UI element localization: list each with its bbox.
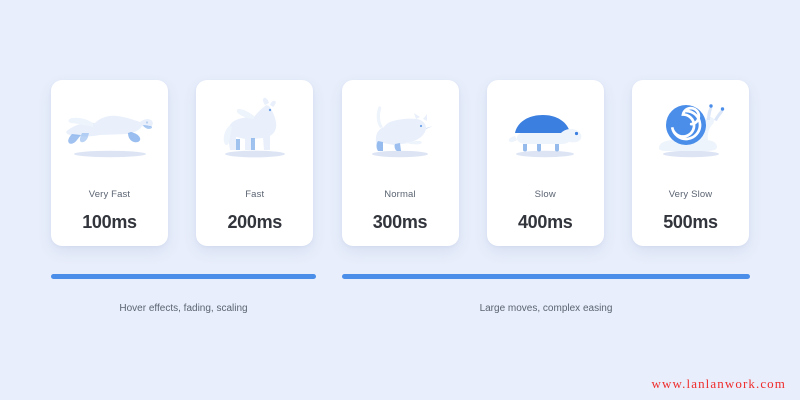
- cheetah-running-icon: [60, 92, 160, 170]
- group-caption-slow-range: Large moves, complex easing: [342, 304, 750, 314]
- speed-card-row: Very Fast 100ms Fast 200ms: [51, 80, 749, 246]
- card-value: 400ms: [518, 213, 573, 231]
- card-value: 500ms: [663, 213, 718, 231]
- card-value: 300ms: [373, 213, 428, 231]
- speed-card-fast[interactable]: Fast 200ms: [196, 80, 313, 246]
- group-bar-slow-range: [342, 274, 750, 279]
- speed-card-very-slow[interactable]: Very Slow 500ms: [632, 80, 749, 246]
- card-label: Very Fast: [89, 190, 130, 200]
- card-label: Slow: [535, 190, 556, 200]
- card-label: Normal: [384, 190, 416, 200]
- speed-card-very-fast[interactable]: Very Fast 100ms: [51, 80, 168, 246]
- speed-scale-infographic: Very Fast 100ms Fast 200ms: [0, 0, 800, 400]
- card-label: Very Slow: [669, 190, 713, 200]
- group-bar-fast-range: [51, 274, 316, 279]
- watermark-url: www.lanlanwork.com: [652, 376, 786, 392]
- card-value: 100ms: [82, 213, 137, 231]
- speed-card-slow[interactable]: Slow 400ms: [487, 80, 604, 246]
- turtle-icon: [495, 92, 595, 170]
- snail-icon: [641, 92, 741, 170]
- card-label: Fast: [245, 190, 264, 200]
- card-value: 200ms: [227, 213, 282, 231]
- horse-icon: [205, 92, 305, 170]
- cat-icon: [350, 92, 450, 170]
- group-caption-fast-range: Hover effects, fading, scaling: [51, 304, 316, 314]
- speed-card-normal[interactable]: Normal 300ms: [342, 80, 459, 246]
